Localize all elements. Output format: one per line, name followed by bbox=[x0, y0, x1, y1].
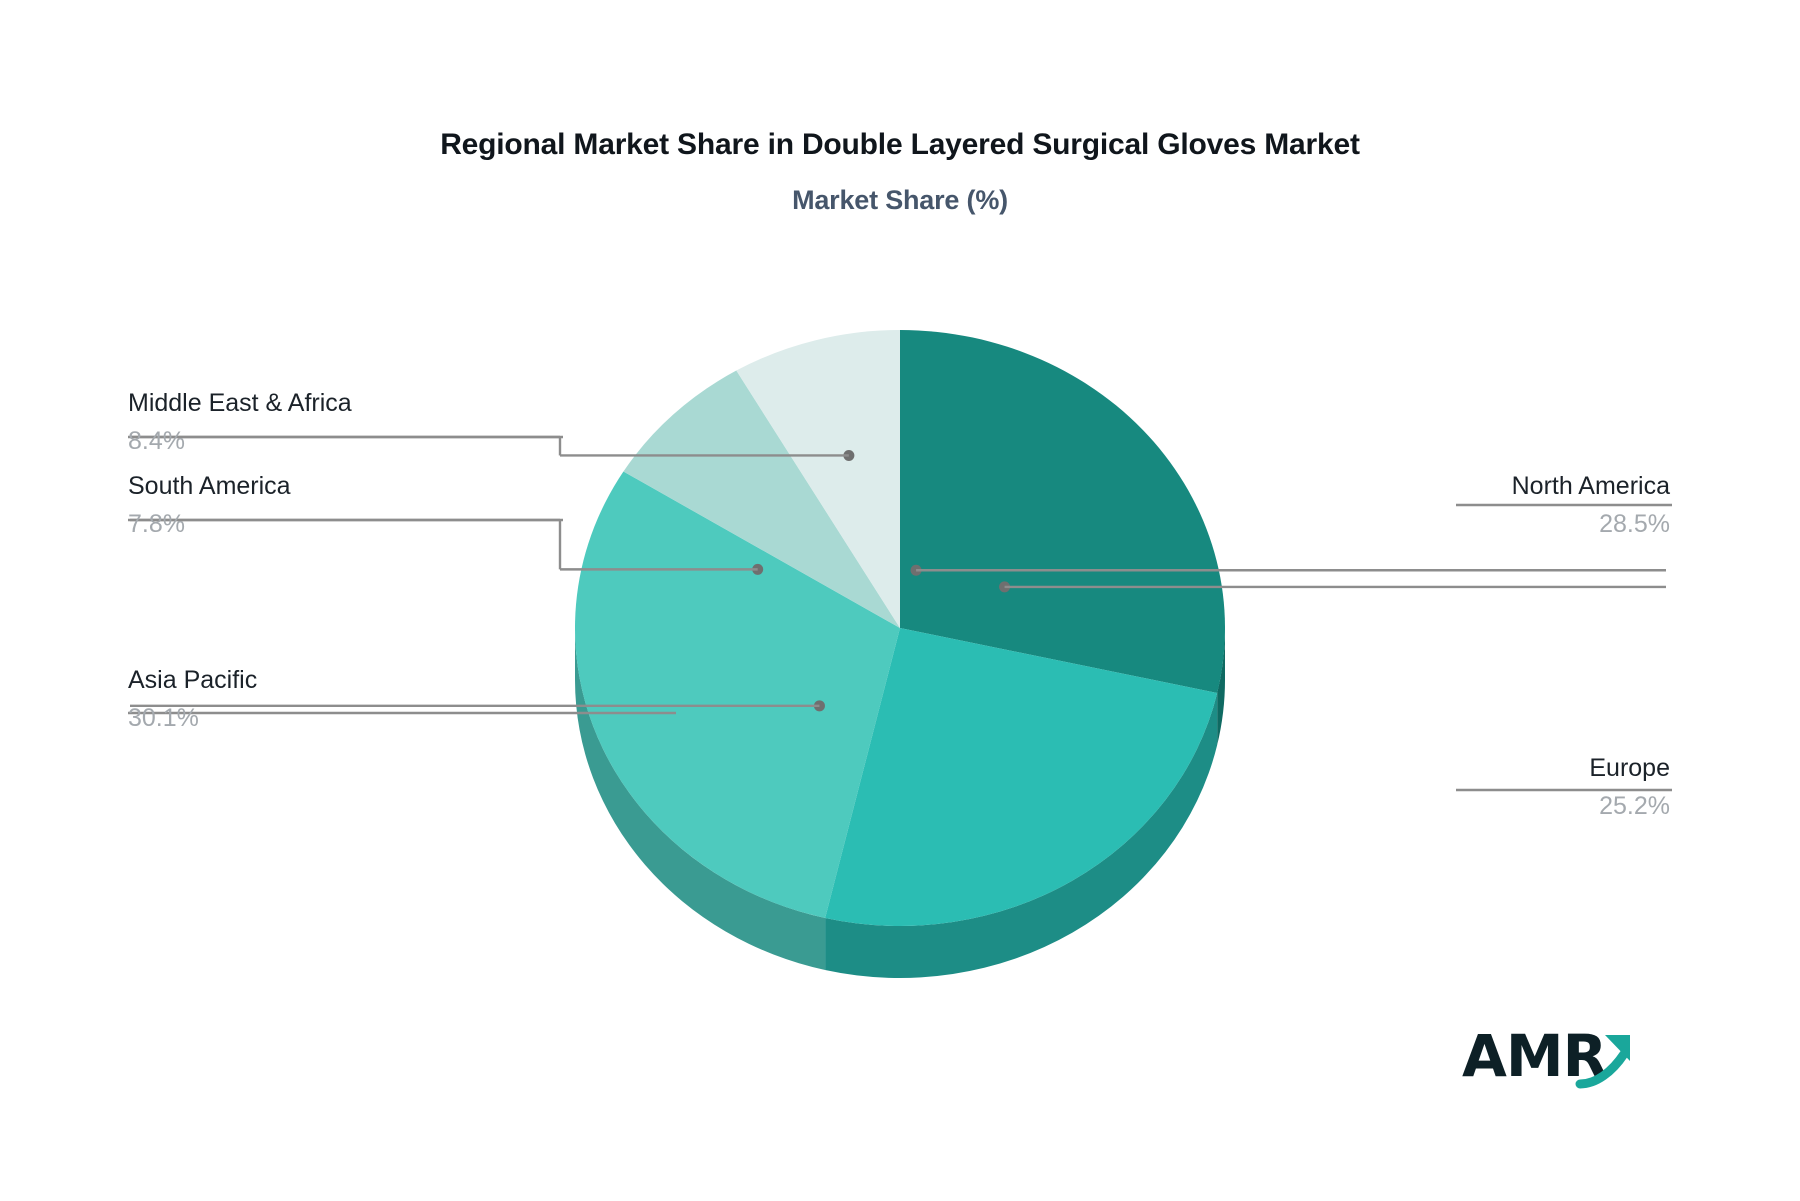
callout-label-europe: Europe bbox=[1250, 755, 1670, 781]
callout-south-america[interactable]: South America 7.8% bbox=[128, 473, 548, 538]
pie-chart bbox=[0, 0, 1800, 1196]
amr-swoosh-icon bbox=[1462, 1022, 1652, 1097]
callout-label-north-america: North America bbox=[1250, 473, 1670, 499]
callout-value-middle-east-africa: 8.4% bbox=[128, 428, 548, 454]
callout-middle-east-africa[interactable]: Middle East & Africa 8.4% bbox=[128, 390, 548, 455]
pie-top-faces bbox=[575, 330, 1225, 926]
callout-label-middle-east-africa: Middle East & Africa bbox=[128, 390, 548, 416]
callout-value-south-america: 7.8% bbox=[128, 511, 548, 537]
callout-asia-pacific[interactable]: Asia Pacific 30.1% bbox=[128, 667, 548, 732]
callout-north-america[interactable]: North America 28.5% bbox=[1250, 473, 1670, 538]
callout-europe[interactable]: Europe 25.2% bbox=[1250, 755, 1670, 820]
chart-canvas: Regional Market Share in Double Layered … bbox=[0, 0, 1800, 1196]
callout-value-north-america: 28.5% bbox=[1250, 511, 1670, 537]
callout-value-asia-pacific: 30.1% bbox=[128, 705, 548, 731]
callout-label-south-america: South America bbox=[128, 473, 548, 499]
pie-svg bbox=[0, 0, 1800, 1196]
callout-label-asia-pacific: Asia Pacific bbox=[128, 667, 548, 693]
amr-logo: AMR bbox=[1462, 1022, 1652, 1097]
callout-value-europe: 25.2% bbox=[1250, 793, 1670, 819]
